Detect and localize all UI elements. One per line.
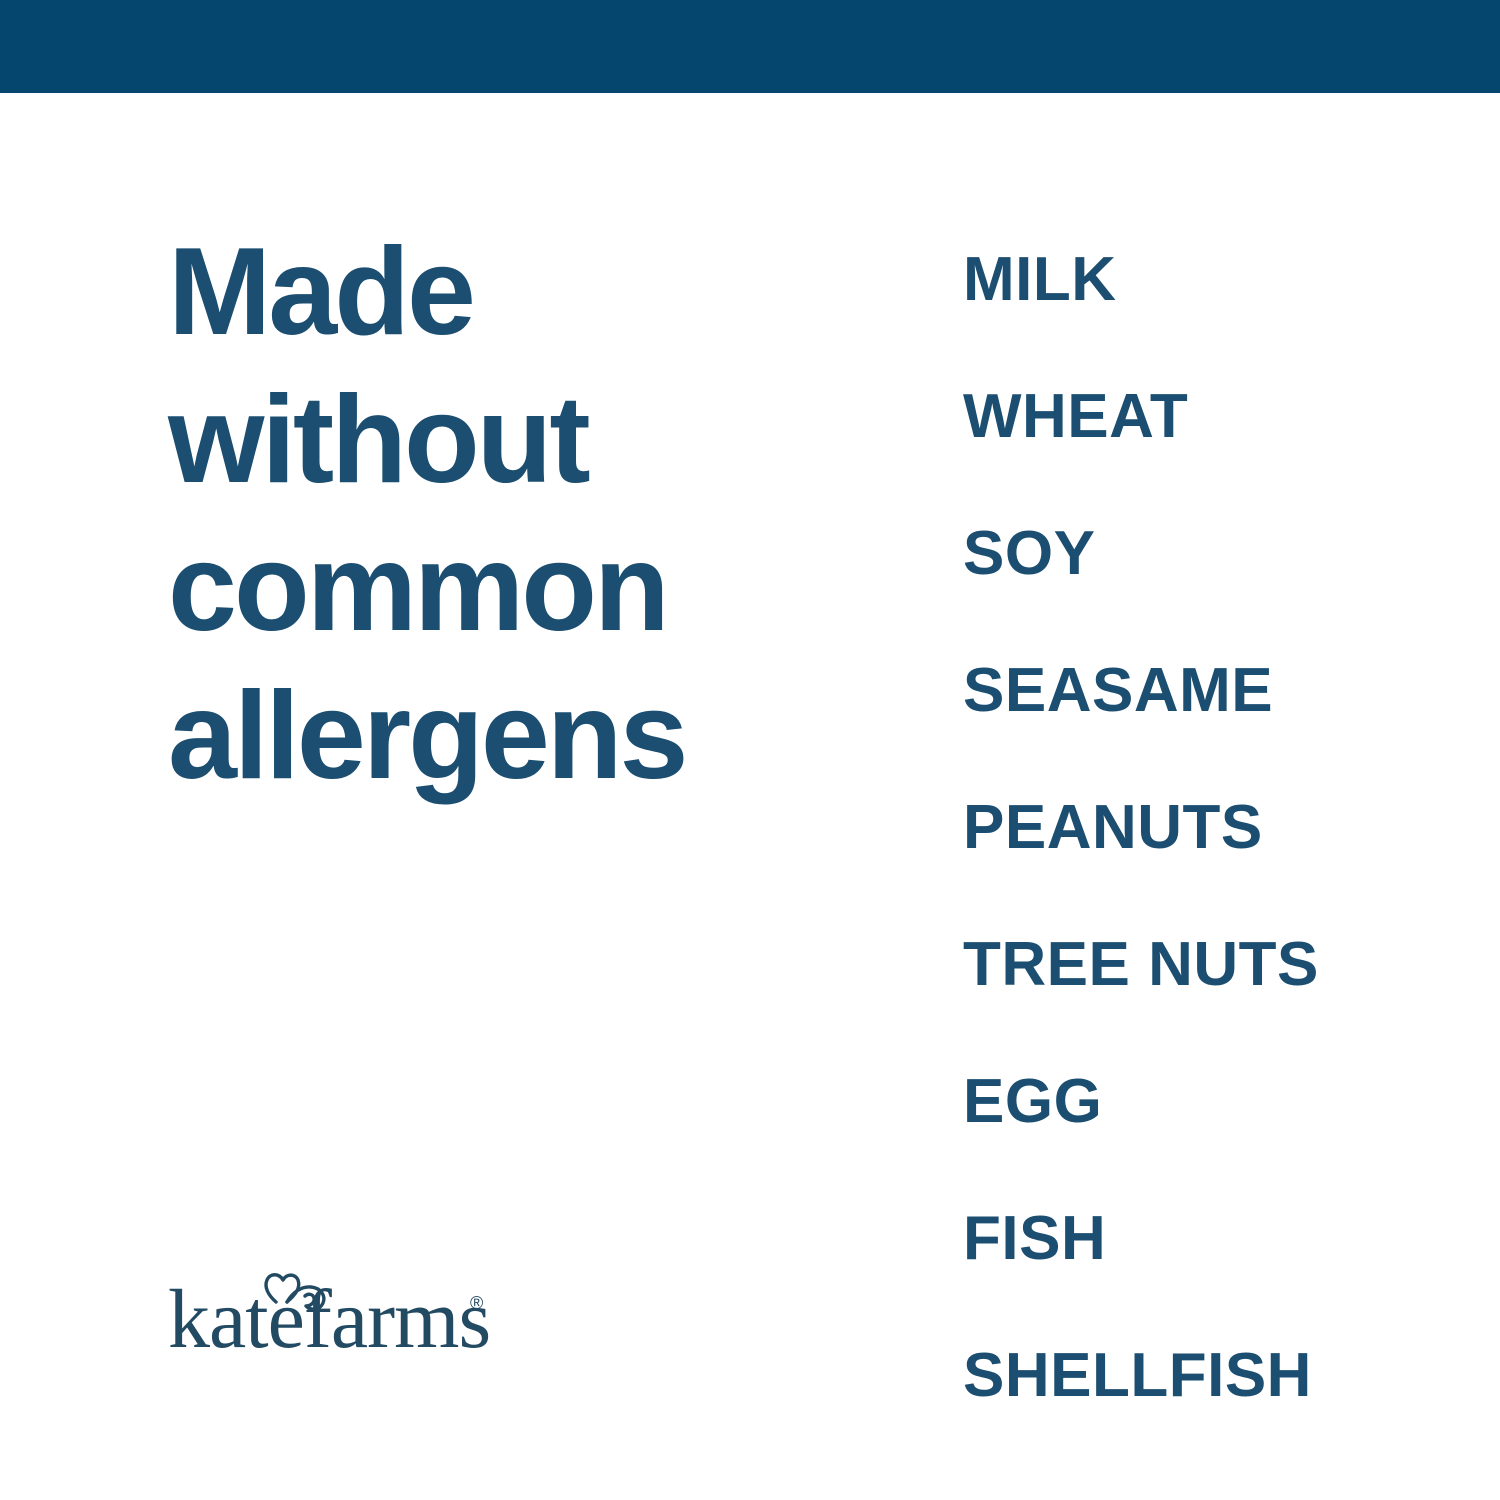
headline-line-2: without: [168, 366, 868, 514]
headline-line-3: common: [168, 514, 868, 662]
top-banner-bar: [0, 0, 1500, 93]
registered-trademark-symbol: ®: [470, 1293, 483, 1313]
katefarms-logo-svg: katefarms ®: [168, 1253, 498, 1363]
content-area: Made without common allergens katefarms …: [0, 93, 1500, 1500]
allergen-list: MILK WHEAT SOY SEASAME PEANUTS TREE NUTS…: [963, 211, 1463, 1444]
allergen-info-graphic: Made without common allergens katefarms …: [0, 0, 1500, 1500]
katefarms-logo: katefarms ®: [168, 1253, 508, 1363]
allergen-item-fish: FISH: [963, 1170, 1463, 1307]
headline-line-4: allergens: [168, 662, 868, 810]
headline-block: Made without common allergens: [168, 218, 868, 810]
allergen-item-seasame: SEASAME: [963, 622, 1463, 759]
allergen-item-shellfish: SHELLFISH: [963, 1307, 1463, 1444]
allergen-item-milk: MILK: [963, 211, 1463, 348]
allergen-item-tree-nuts: TREE NUTS: [963, 896, 1463, 1033]
allergen-item-egg: EGG: [963, 1033, 1463, 1170]
headline-line-1: Made: [168, 218, 868, 366]
logo-wordmark: katefarms: [168, 1273, 490, 1363]
allergen-item-soy: SOY: [963, 485, 1463, 622]
allergen-item-wheat: WHEAT: [963, 348, 1463, 485]
allergen-item-peanuts: PEANUTS: [963, 759, 1463, 896]
